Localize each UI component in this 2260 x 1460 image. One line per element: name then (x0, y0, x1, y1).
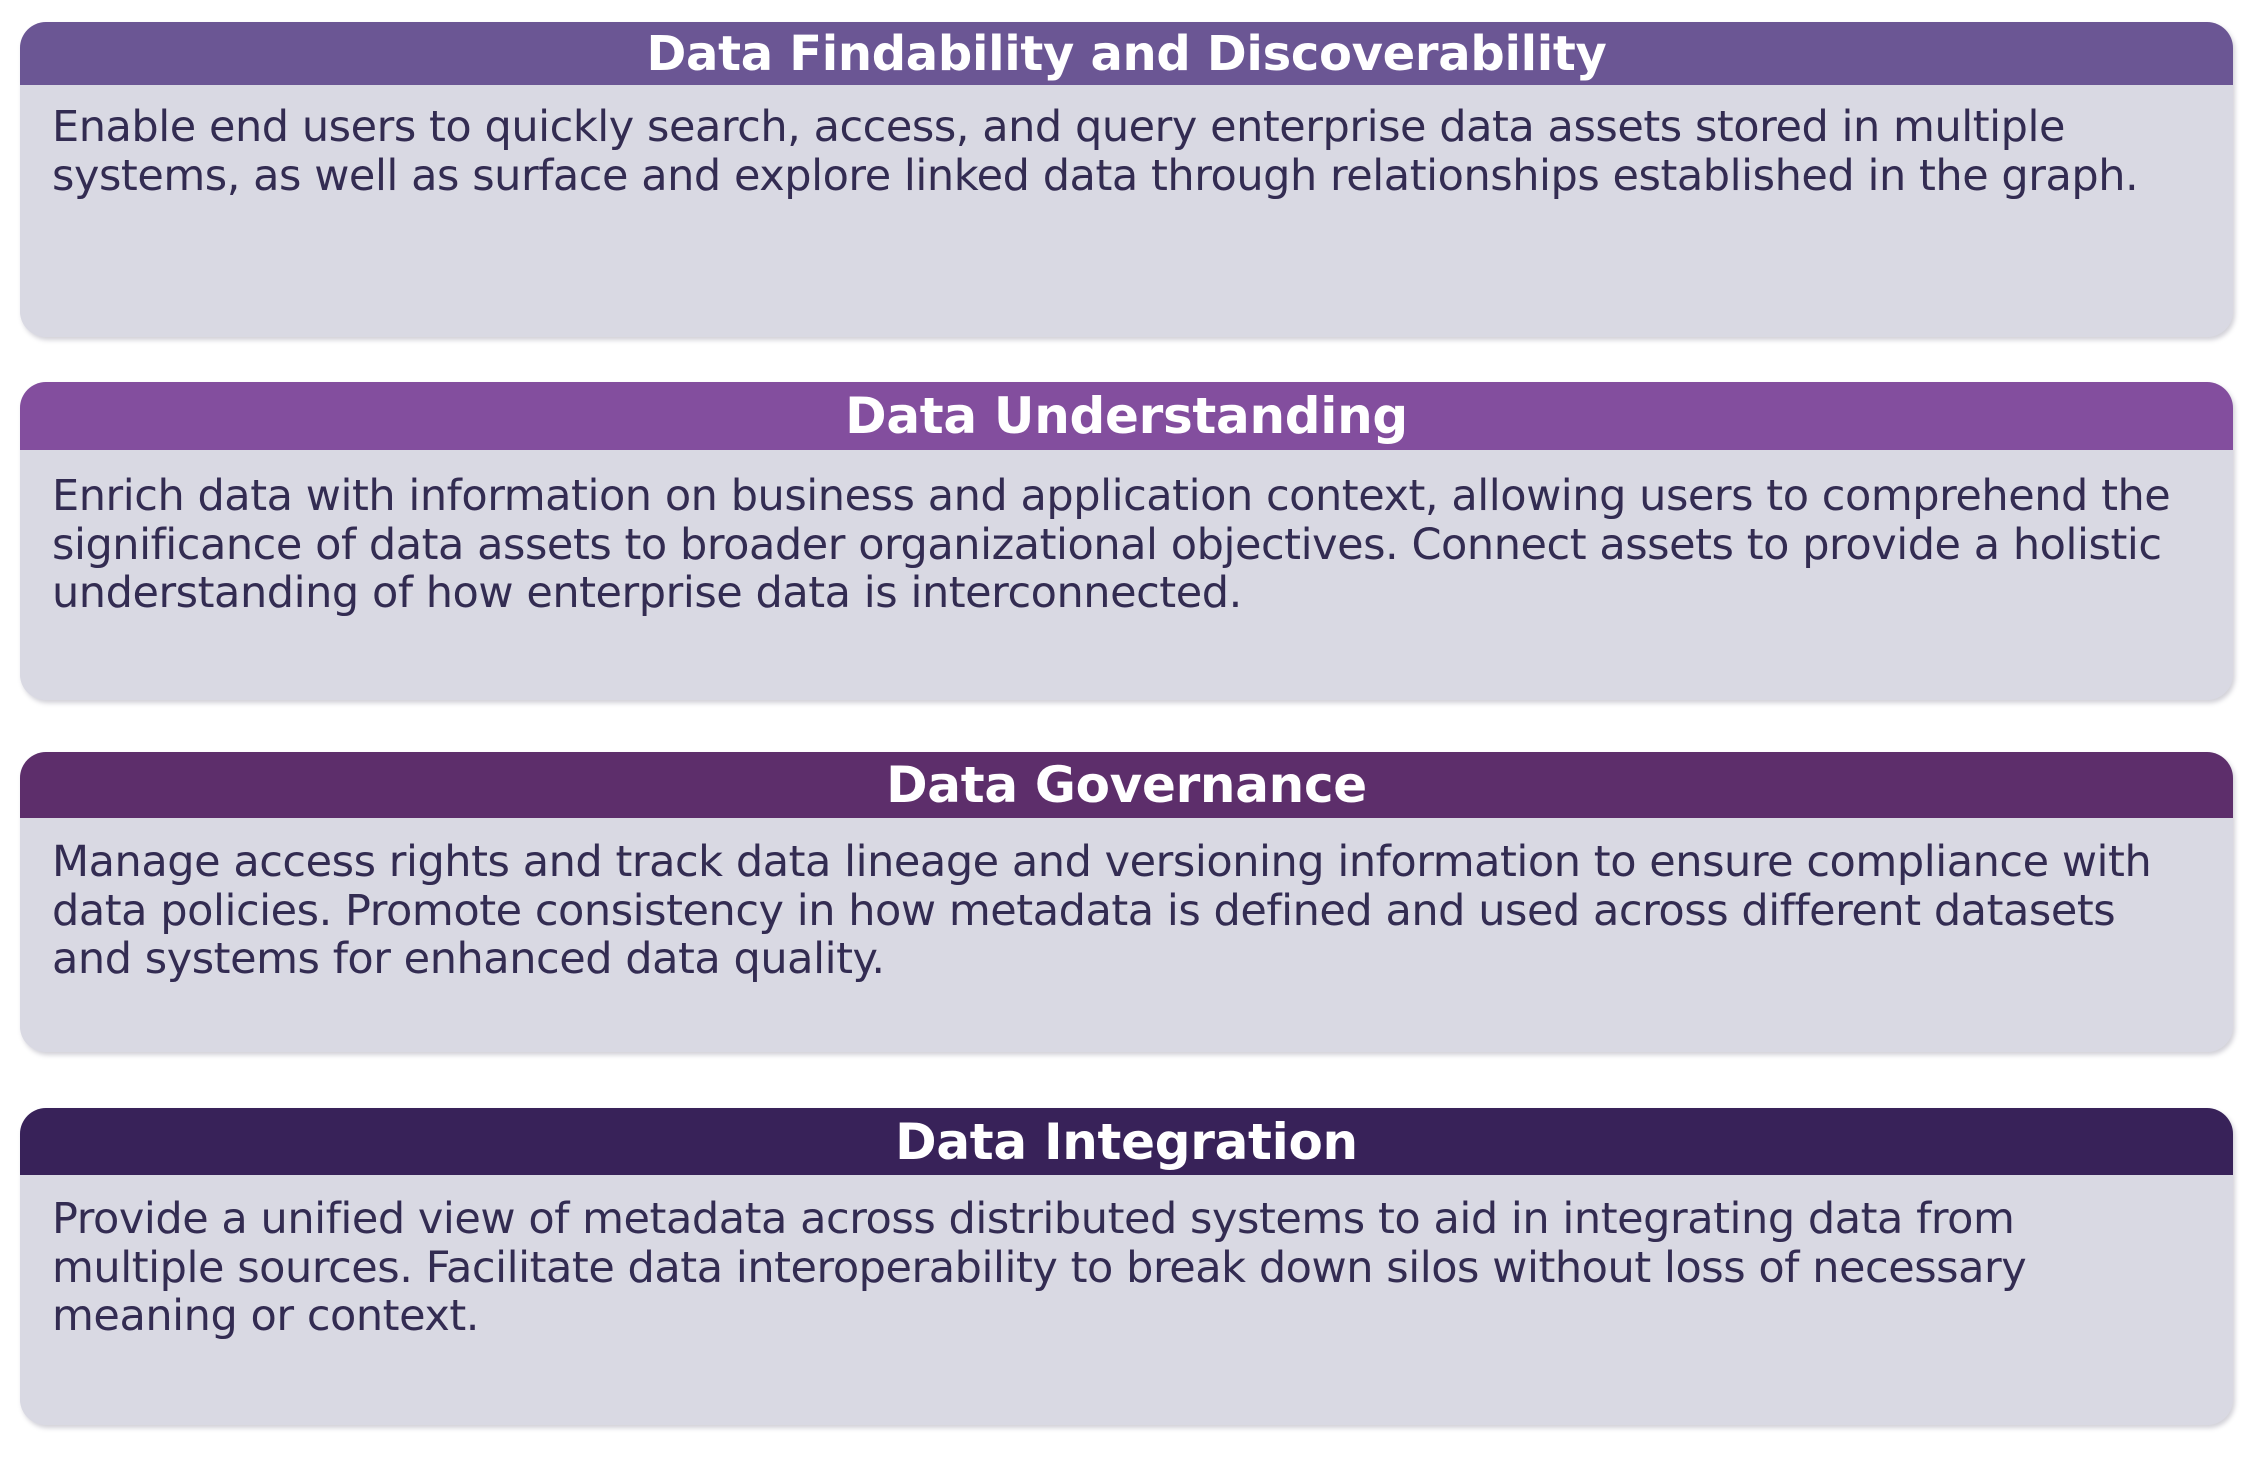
card-data-integration: Data Integration Provide a unified view … (20, 1108, 2233, 1425)
card-header-3: Data Integration (20, 1108, 2233, 1175)
card-data-understanding: Data Understanding Enrich data with info… (20, 382, 2233, 700)
card-description-3: Provide a unified view of metadata acros… (52, 1195, 2199, 1341)
card-description-0: Enable end users to quickly search, acce… (52, 103, 2199, 200)
card-stack: Data Findability and Discoverability Ena… (0, 0, 2260, 1460)
card-header-1: Data Understanding (20, 382, 2233, 450)
card-data-findability-and-discoverability: Data Findability and Discoverability Ena… (20, 22, 2233, 337)
card-title-3: Data Integration (895, 1117, 1358, 1167)
card-data-governance: Data Governance Manage access rights and… (20, 752, 2233, 1052)
card-body-0: Enable end users to quickly search, acce… (20, 85, 2233, 337)
card-body-2: Manage access rights and track data line… (20, 818, 2233, 1052)
card-description-1: Enrich data with information on business… (52, 472, 2199, 618)
card-title-1: Data Understanding (845, 391, 1408, 441)
card-title-0: Data Findability and Discoverability (646, 30, 1606, 78)
card-body-3: Provide a unified view of metadata acros… (20, 1175, 2233, 1425)
card-body-1: Enrich data with information on business… (20, 450, 2233, 700)
card-header-0: Data Findability and Discoverability (20, 22, 2233, 85)
card-header-2: Data Governance (20, 752, 2233, 818)
card-title-2: Data Governance (886, 760, 1367, 810)
card-description-2: Manage access rights and track data line… (52, 838, 2199, 984)
